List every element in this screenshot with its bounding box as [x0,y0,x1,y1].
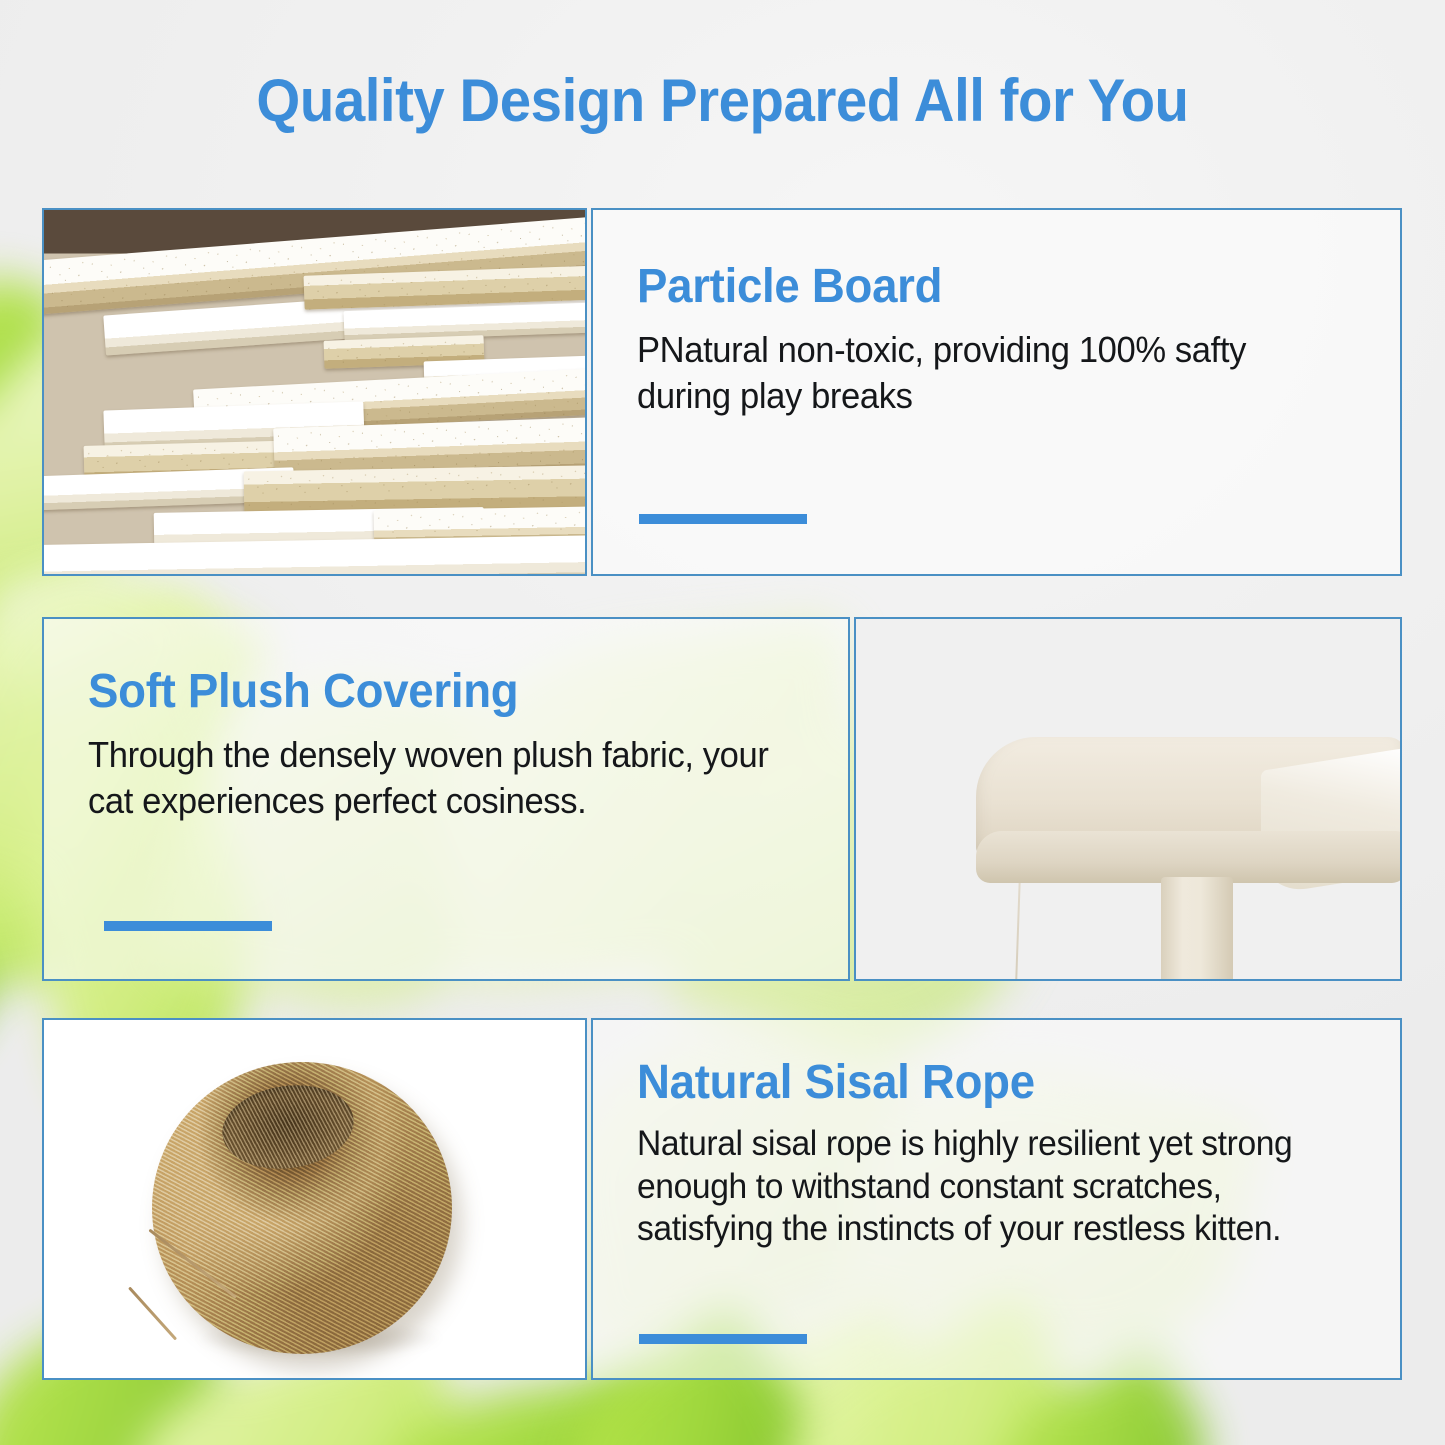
accent-bar-natural-sisal-rope [639,1334,807,1344]
sisal-rope-ball-photo [42,1018,587,1380]
infographic-page: Quality Design Prepared All for You [0,0,1445,1445]
feature-card-natural-sisal-rope: Natural Sisal Rope Natural sisal rope is… [42,1018,1402,1380]
card-body-particle-board: PNatural non-toxic, providing 100% safty… [637,327,1327,418]
particle-board-text-pane: Particle Board PNatural non-toxic, provi… [591,208,1402,576]
card-title-soft-plush-covering: Soft Plush Covering [88,667,768,718]
card-body-soft-plush-covering: Through the densely woven plush fabric, … [88,732,775,823]
card-title-particle-board: Particle Board [637,262,1320,313]
accent-bar-particle-board [639,514,807,524]
sisal-rope-text-pane: Natural Sisal Rope Natural sisal rope is… [591,1018,1402,1380]
accent-bar-soft-plush-covering [104,921,272,931]
card-title-natural-sisal-rope: Natural Sisal Rope [637,1058,1320,1109]
plush-perch-photo [854,617,1402,981]
page-title: Quality Design Prepared All for You [43,66,1401,135]
feature-card-soft-plush-covering: Soft Plush Covering Through the densely … [42,617,1402,981]
particle-board-photo [42,208,587,576]
soft-plush-text-pane: Soft Plush Covering Through the densely … [42,617,850,981]
card-body-natural-sisal-rope: Natural sisal rope is highly resilient y… [637,1123,1327,1251]
feature-card-particle-board: Particle Board PNatural non-toxic, provi… [42,208,1402,576]
